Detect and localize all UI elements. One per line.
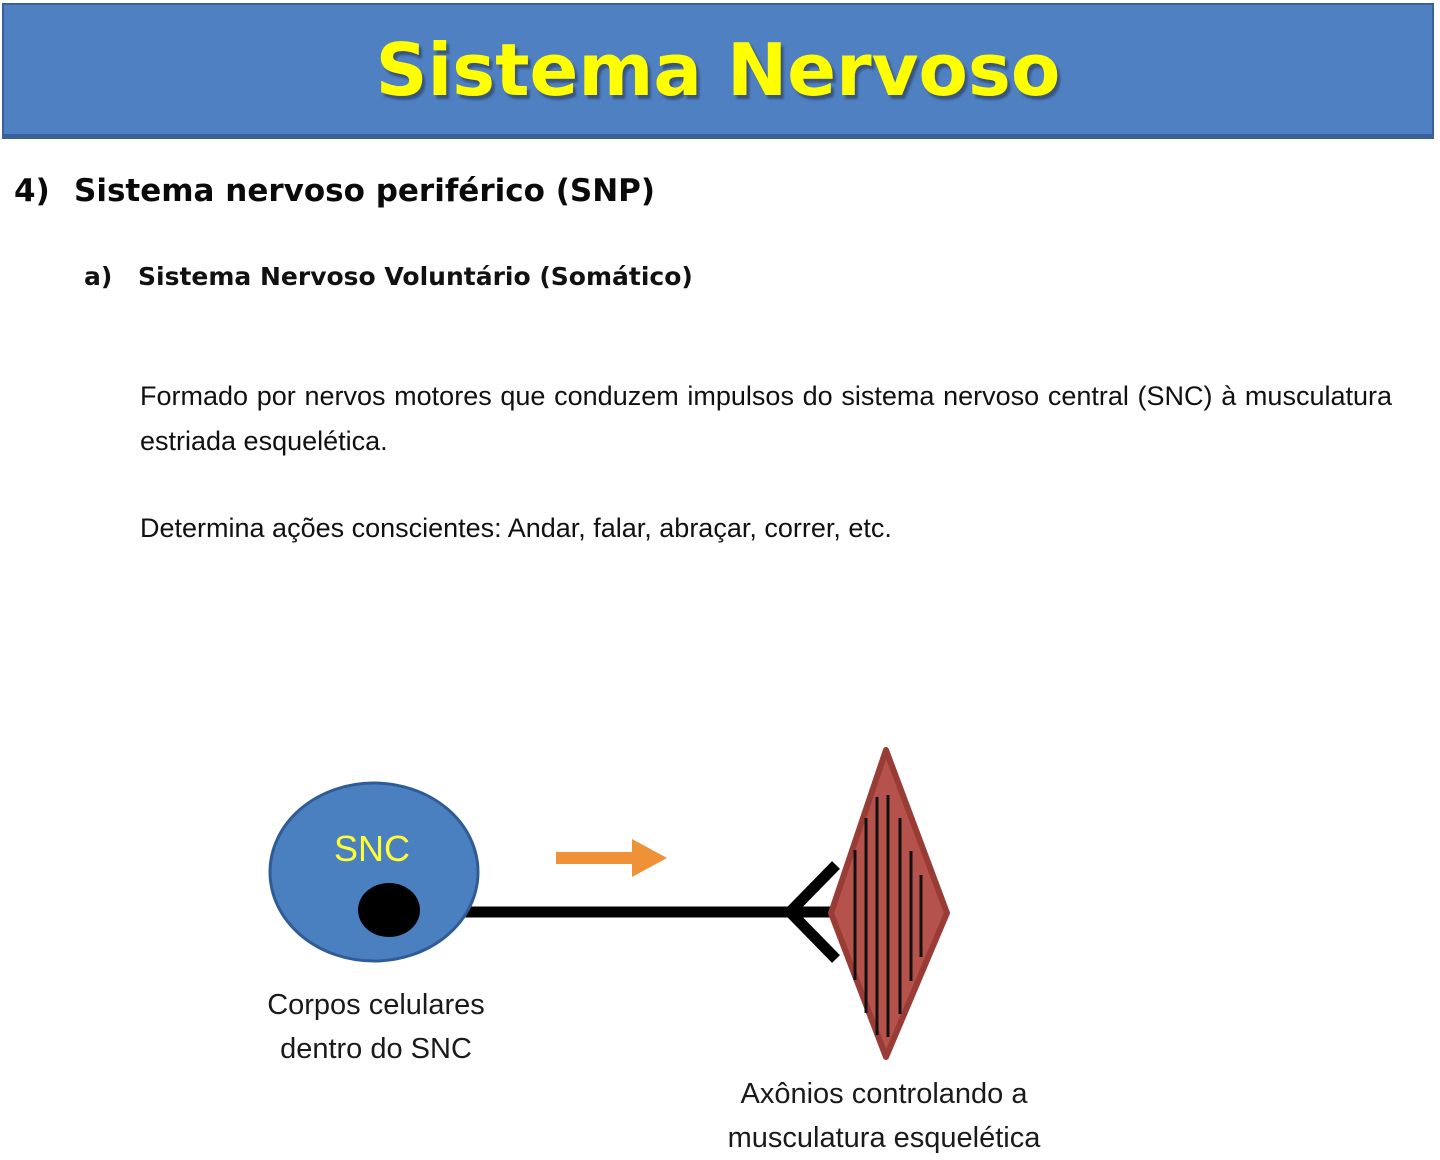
caption-cell-bodies: Corpos celulares dentro do SNC	[204, 983, 548, 1071]
outline-item-4-marker: 4)	[14, 174, 74, 208]
outline-item-a-label: Sistema Nervoso Voluntário (Somático)	[138, 263, 693, 291]
direction-arrow-icon	[556, 839, 667, 877]
slide-root: { "slide": { "title": "Sistema Nervoso",…	[0, 0, 1440, 1080]
caption-axons-muscle: Axônios controlando a musculatura esquel…	[666, 1072, 1102, 1160]
outline-item-4: 4) Sistema nervoso periférico (SNP)	[14, 174, 1414, 208]
outline-item-4-label: Sistema nervoso periférico (SNP)	[74, 174, 655, 208]
cns-label: SNC	[334, 828, 410, 869]
page-title: Sistema Nervoso	[376, 34, 1061, 106]
body-paragraph-1: Formado por nervos motores que conduzem …	[140, 374, 1392, 464]
cns-ellipse	[270, 783, 478, 961]
soma-circle	[358, 883, 420, 937]
outline-item-a: a) Sistema Nervoso Voluntário (Somático)	[84, 263, 1414, 291]
slide-title-banner: Sistema Nervoso	[2, 3, 1434, 139]
body-paragraph-2: Determina ações conscientes: Andar, fala…	[140, 506, 1392, 551]
slide-content: 4) Sistema nervoso periférico (SNP) a) S…	[0, 145, 1440, 1080]
outline-item-a-marker: a)	[84, 263, 138, 291]
